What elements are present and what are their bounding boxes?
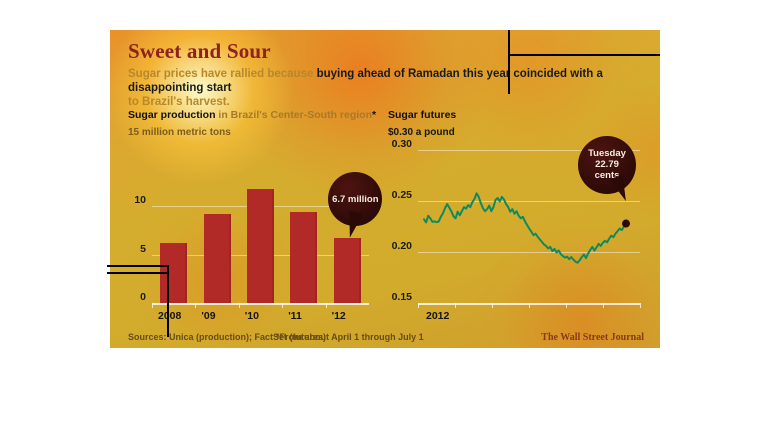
deck-faint-tail: to Brazil's harvest.: [128, 96, 230, 108]
bar-x-tick: [282, 303, 283, 308]
deck-faint-lead: Sugar prices have rallied because: [128, 68, 317, 80]
bar-10: [247, 189, 274, 303]
last-value-marker: [622, 220, 630, 228]
bar-x-tick: [195, 303, 196, 308]
bar-y-tick-label: 10: [128, 194, 146, 206]
bar-gridline: [152, 303, 369, 305]
screenshot-canvas: Sweet and Sour Sugar prices have rallied…: [0, 0, 770, 448]
bar-y-tick-label: 5: [128, 243, 146, 255]
wsj-infographic: Sweet and Sour Sugar prices have rallied…: [110, 30, 660, 348]
bar-chart-unit-label: 15 million metric tons: [128, 127, 231, 138]
line-chart-panel: 0.150.200.250.302012 Tuesday 22.79 cents: [388, 148, 650, 333]
bar-x-tick-label: '10: [245, 310, 259, 322]
bar-x-tick-label: '09: [201, 310, 215, 322]
page-title: Sweet and Sour: [128, 40, 271, 63]
bar-x-tick-label: '12: [332, 310, 346, 322]
bar-x-tick: [326, 303, 327, 308]
bar-09: [204, 214, 231, 303]
line-callout-line2: 22.79: [588, 159, 626, 170]
bar-11: [290, 212, 317, 303]
line-chart-subhead: Sugar futures: [388, 109, 456, 121]
bar-plot-area: 05102008'09'10'11'12: [128, 148, 373, 333]
overlay-vertical-line: [508, 30, 510, 94]
bar-chart-panel: 05102008'09'10'11'12 6.7 million: [128, 148, 373, 333]
bar-callout-bubble: 6.7 million: [328, 172, 382, 226]
bar-x-tick: [152, 303, 153, 308]
bar-x-tick-label: '11: [288, 310, 302, 322]
footer-brand: The Wall Street Journal: [541, 332, 644, 343]
overlay-selection-box-inner: [107, 272, 169, 274]
line-chart-unit-label: $0.30 a pound: [388, 127, 455, 138]
bar-x-tick-label: 2008: [158, 310, 181, 322]
line-callout-bubble: Tuesday 22.79 cents: [578, 136, 636, 194]
overlay-selection-box-right: [167, 265, 169, 337]
bar-callout-label: 6.7 million: [332, 194, 378, 205]
line-callout-line1: Tuesday: [588, 148, 626, 159]
overlay-horizontal-line-top: [508, 54, 660, 56]
bar-subhead-b: in Brazil's Center-South region: [216, 109, 373, 121]
footer-note: *From about April 1 through July 1: [276, 332, 424, 342]
bar-subhead-star: *: [372, 109, 376, 121]
bar-chart-subhead: Sugar production in Brazil's Center-Sout…: [128, 109, 376, 121]
bar-x-tick: [239, 303, 240, 308]
deck-text: Sugar prices have rallied because buying…: [128, 67, 656, 109]
bar-subhead-a: Sugar production: [128, 109, 216, 121]
overlay-selection-box: [107, 265, 169, 267]
bar-12: [334, 238, 361, 303]
bar-y-tick-label: 0: [128, 291, 146, 303]
